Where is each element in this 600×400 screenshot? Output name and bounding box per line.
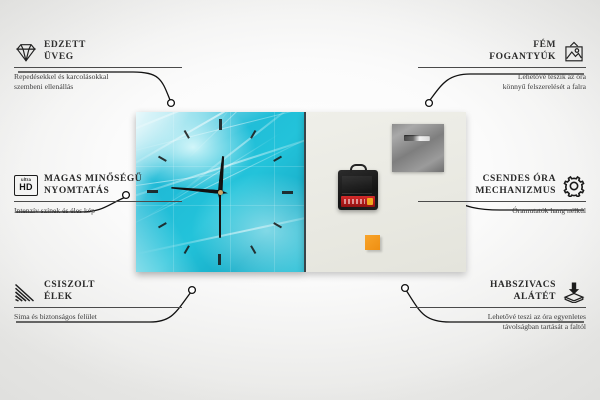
foam-pad-icon	[562, 281, 586, 303]
feature-title-line2: MECHANIZMUS	[476, 186, 556, 198]
hanger-slot	[404, 135, 430, 141]
feature-title-line1: MAGAS MINŐSÉGŰ	[44, 174, 142, 186]
feature-metal-hangers: FÉM FOGANTYÚK Lehetővé teszik az óra kön…	[418, 40, 586, 91]
product-image	[136, 112, 466, 272]
feature-title-line2: ALÁTÉT	[490, 292, 556, 304]
feature-title-line1: CSENDES ÓRA	[476, 174, 556, 186]
feature-desc-line1: Lehetővé teszik az óra	[418, 72, 586, 82]
feature-title-line2: ÉLEK	[44, 292, 95, 304]
feature-title-line1: FÉM	[489, 40, 556, 52]
divider	[14, 67, 182, 68]
feature-title-line1: EDZETT	[44, 40, 86, 52]
gear-icon	[562, 175, 586, 197]
feature-title-line2: ÜVEG	[44, 52, 86, 64]
ultra-hd-icon: ultra HD	[14, 175, 38, 197]
metal-hanger-plate	[392, 124, 444, 172]
divider	[14, 201, 182, 202]
ultra-hd-icon-main: HD	[19, 183, 33, 192]
feature-desc-line1: Sima és biztonságos felület	[14, 312, 182, 322]
battery	[341, 196, 375, 207]
feature-silent-mechanism: CSENDES ÓRA MECHANIZMUS Óramutatók hang …	[418, 174, 586, 216]
diamond-icon	[14, 41, 38, 63]
clock-center-pin	[218, 190, 223, 195]
feature-desc-line1: Óramutatók hang nélkül	[418, 206, 586, 216]
feature-foam-pad: HABSZIVACS ALÁTÉT Lehetővé teszi az óra …	[410, 280, 586, 331]
polished-edge-icon	[14, 281, 38, 303]
feature-desc-line2: szembeni ellenállás	[14, 82, 182, 92]
divider	[14, 307, 182, 308]
mechanism-body-detail	[342, 176, 372, 194]
foam-pad	[365, 235, 380, 250]
feature-desc-line1: Repedésekkel és karcolásokkal	[14, 72, 182, 82]
divider	[418, 67, 586, 68]
feature-tempered-glass: EDZETT ÜVEG Repedésekkel és karcolásokka…	[14, 40, 182, 91]
feature-desc-line2: könnyű felszerelését a falra	[418, 82, 586, 92]
feature-title-line1: HABSZIVACS	[490, 280, 556, 292]
feature-title-line2: NYOMTATÁS	[44, 186, 142, 198]
battery-label	[344, 199, 365, 204]
divider	[418, 201, 586, 202]
feature-desc-line2: távolságban tartását a faltól	[410, 322, 586, 332]
feature-hq-printing: ultra HD MAGAS MINŐSÉGŰ NYOMTATÁS Intenz…	[14, 174, 182, 216]
feature-polished-edges: CSISZOLT ÉLEK Sima és biztonságos felüle…	[14, 280, 182, 322]
picture-hanger-icon	[562, 41, 586, 63]
infographic-stage: EDZETT ÜVEG Repedésekkel és karcolásokka…	[0, 0, 600, 400]
feature-desc-line1: Lehetővé teszi az óra egyenletes	[410, 312, 586, 322]
feature-title-line2: FOGANTYÚK	[489, 52, 556, 64]
feature-desc-line1: Intenzív színek és éles kép	[14, 206, 182, 216]
mechanism-loop	[350, 164, 367, 173]
divider	[410, 307, 586, 308]
feature-title-line1: CSISZOLT	[44, 280, 95, 292]
clock-mechanism	[338, 170, 378, 210]
